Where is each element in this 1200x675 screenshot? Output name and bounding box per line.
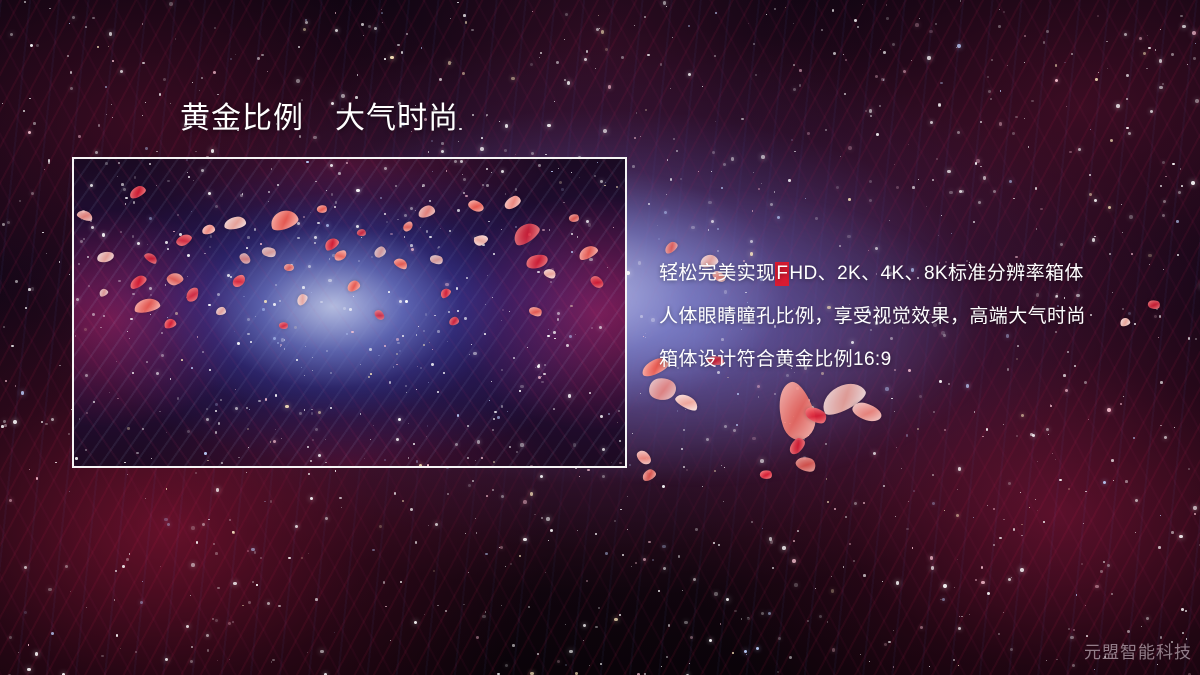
watermark: 元盟智能科技 bbox=[1084, 638, 1192, 663]
petal bbox=[674, 391, 701, 413]
petal bbox=[641, 468, 658, 483]
body-line-1-post: HD、2K、4K、8K标准分辨率箱体 bbox=[789, 263, 1083, 284]
body-text-block: 轻松完美实现FHD、2K、4K、8K标准分辨率箱体 人体眼睛瞳孔比例，享受视觉效… bbox=[659, 252, 1179, 381]
highlight-letter-f: F bbox=[775, 262, 789, 286]
slide-canvas: 黄金比例 大气时尚 轻松完美实现FHD、2K、4K、8K标准分辨率箱体 人体眼睛… bbox=[0, 0, 1200, 675]
petal bbox=[794, 453, 818, 474]
petal bbox=[759, 469, 773, 481]
body-line-1-pre: 轻松完美实现 bbox=[659, 263, 775, 284]
petal bbox=[634, 448, 653, 467]
page-title: 黄金比例 大气时尚 bbox=[180, 101, 459, 137]
petal bbox=[786, 436, 808, 457]
body-line-3: 箱体设计符合黄金比例16:9 bbox=[659, 338, 1179, 381]
petal bbox=[850, 400, 883, 424]
body-line-2: 人体眼睛瞳孔比例，享受视觉效果，高端大气时尚 bbox=[659, 295, 1179, 338]
body-line-1: 轻松完美实现FHD、2K、4K、8K标准分辨率箱体 bbox=[659, 252, 1179, 295]
